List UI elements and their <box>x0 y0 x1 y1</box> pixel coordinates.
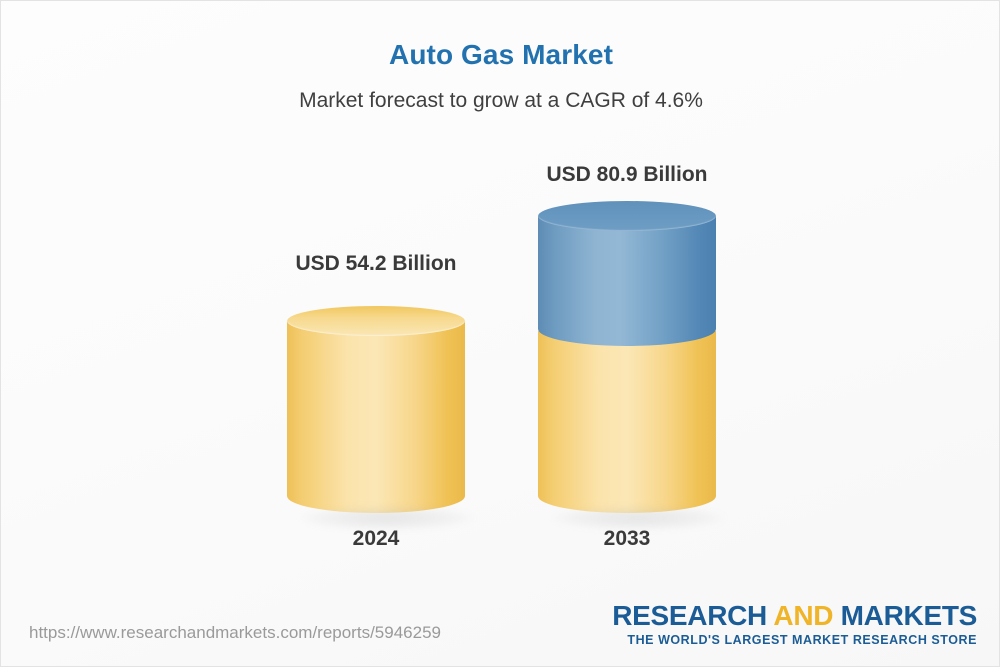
chart-title: Auto Gas Market <box>1 39 1000 71</box>
logo-wordmark: RESEARCH AND MARKETS <box>612 601 977 630</box>
source-url[interactable]: https://www.researchandmarkets.com/repor… <box>29 623 441 643</box>
cylinder-body-blue-growth <box>538 216 716 346</box>
cylinder-top-ellipse-gold <box>287 306 465 336</box>
chart-card: Auto Gas Market Market forecast to grow … <box>0 0 1000 667</box>
brand-logo[interactable]: RESEARCH AND MARKETS THE WORLD'S LARGEST… <box>612 601 977 647</box>
cylinder-2024[interactable] <box>287 306 465 513</box>
cylinder-body-gold-base <box>538 331 716 513</box>
logo-word-markets: MARKETS <box>841 600 977 631</box>
category-label-2033: 2033 <box>497 527 757 551</box>
value-label-2024: USD 54.2 Billion <box>246 252 506 276</box>
value-label-2033: USD 80.9 Billion <box>497 163 757 187</box>
logo-word-and: AND <box>773 600 833 631</box>
plot-area: USD 54.2 Billion 2024 USD 80.9 Billion 2… <box>1 131 1000 571</box>
logo-tagline: THE WORLD'S LARGEST MARKET RESEARCH STOR… <box>612 633 977 647</box>
category-label-2024: 2024 <box>246 527 506 551</box>
chart-subtitle: Market forecast to grow at a CAGR of 4.6… <box>1 89 1000 113</box>
cylinder-body-gold <box>287 321 465 513</box>
cylinder-2033[interactable] <box>538 201 716 513</box>
cylinder-top-ellipse-blue <box>538 201 716 231</box>
logo-word-research: RESEARCH <box>612 600 767 631</box>
